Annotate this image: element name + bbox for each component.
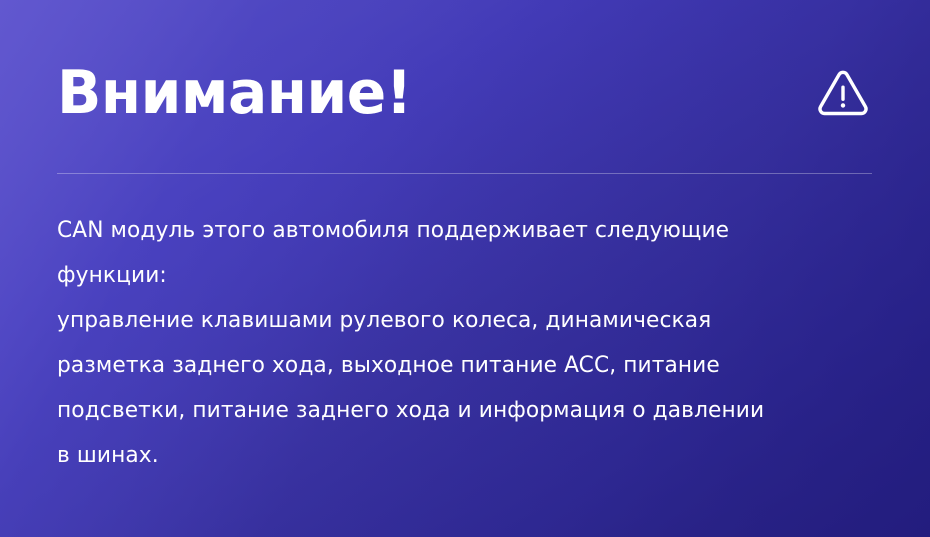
body-line: в шинах. [57,433,848,478]
body-line: разметка заднего хода, выходное питание … [57,343,848,388]
page-title: Внимание! [57,63,412,123]
body-line: функции: [57,253,848,298]
body-line: управление клавишами рулевого колеса, ди… [57,298,848,343]
body-text-block: CAN модуль этого автомобиля поддерживает… [57,208,877,478]
warning-triangle-icon [815,65,871,121]
body-line: CAN модуль этого автомобиля поддерживает… [57,208,848,253]
header-divider [57,173,872,174]
warning-notice-slide: Внимание! CAN модуль этого автомобиля по… [0,0,930,537]
body-line: подсветки, питание заднего хода и информ… [57,388,848,433]
slide-header: Внимание! [57,48,873,138]
